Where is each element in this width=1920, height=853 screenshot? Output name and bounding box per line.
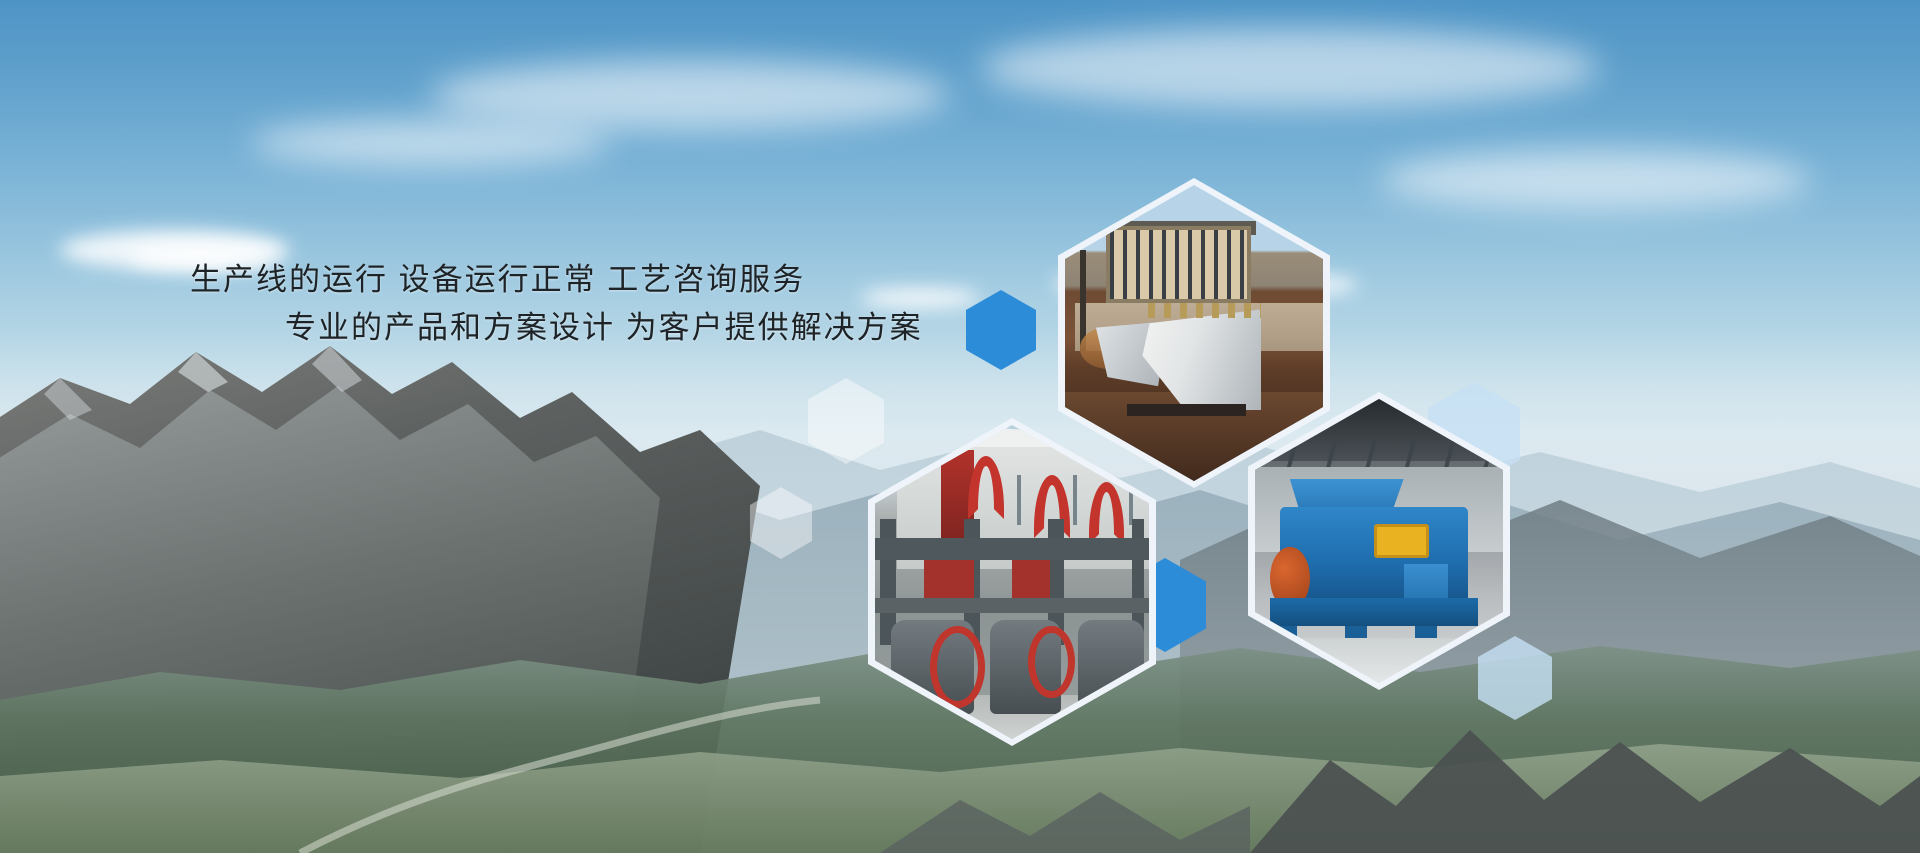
headline-line-2: 专业的产品和方案设计 为客户提供解决方案 xyxy=(0,304,960,352)
photo-hexagon-top-right: 白色冶金设备 / 厂区地面 xyxy=(1058,178,1330,488)
headline-block: 生产线的运行 设备运行正常 工艺咨询服务 专业的产品和方案设计 为客户提供解决方… xyxy=(0,256,960,352)
photo-alt-1: 白色冶金设备 / 厂区地面 xyxy=(1058,178,1059,179)
decorative-hexagon-ice-corner xyxy=(1478,636,1552,720)
decorative-hexagon-white-mid xyxy=(808,378,884,464)
hero-banner: 生产线的运行 设备运行正常 工艺咨询服务 专业的产品和方案设计 为客户提供解决方… xyxy=(0,0,1920,853)
decorative-hexagon-blue-upper xyxy=(966,290,1036,370)
hexagon-cluster: 白色冶金设备 / 厂区地面 xyxy=(0,0,1920,853)
photo-hexagon-bottom-center: 灰色成型机组 与 厂房 xyxy=(868,418,1156,746)
decorative-hexagon-white-lower xyxy=(750,487,812,559)
headline-line-1: 生产线的运行 设备运行正常 工艺咨询服务 xyxy=(0,256,960,304)
